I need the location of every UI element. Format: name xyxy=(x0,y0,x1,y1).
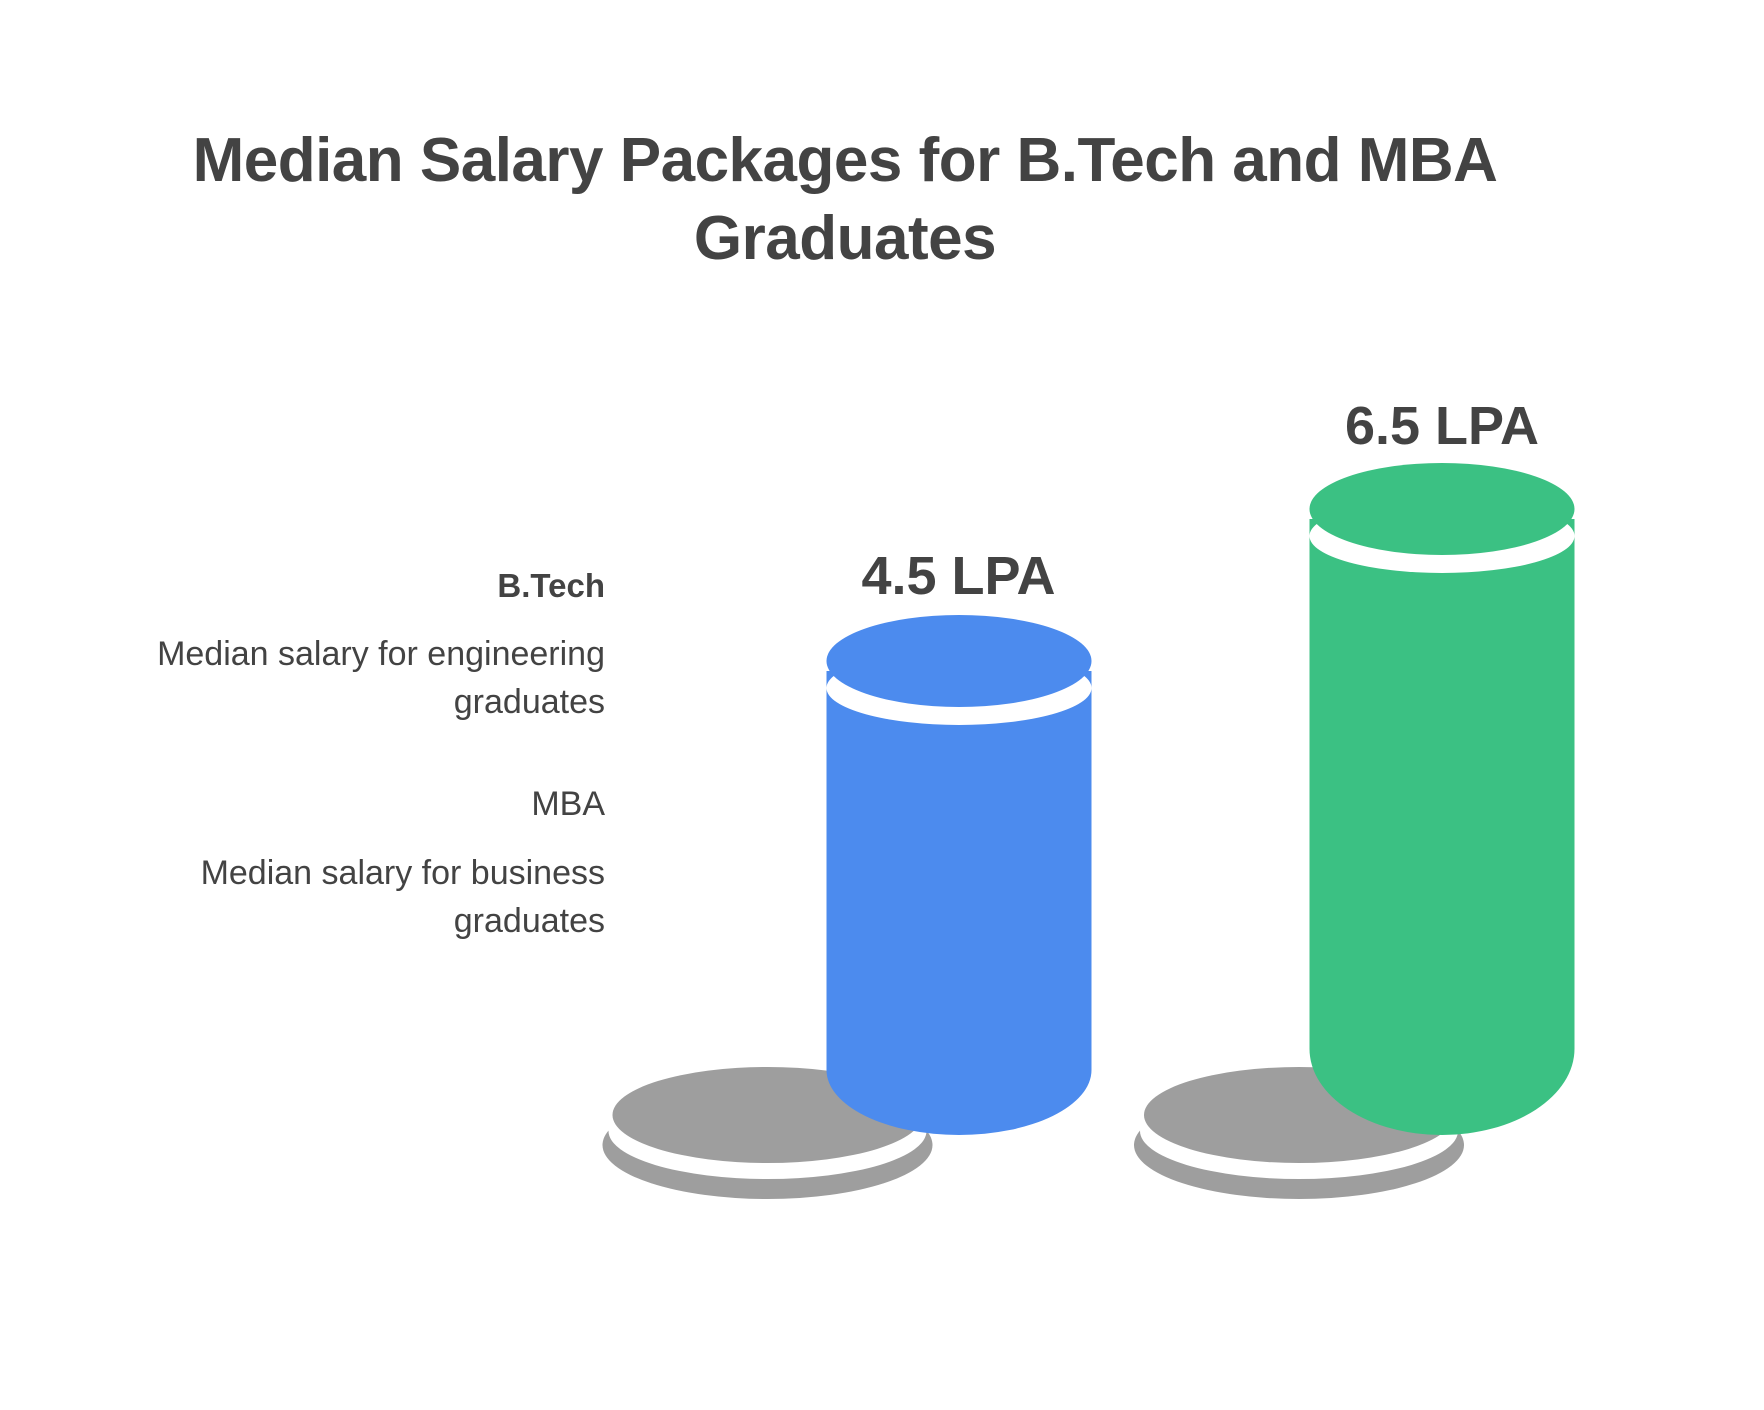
cylinder-body xyxy=(826,671,1091,1135)
plot-area: 4.5 LPA 6.5 LPA xyxy=(0,0,1764,1410)
bar-btech[interactable]: 4.5 LPA xyxy=(767,545,1150,1165)
cylinder-top-cap xyxy=(826,615,1091,707)
cylinder-top-cap xyxy=(1310,463,1575,555)
cylinder-body xyxy=(1310,519,1575,1135)
bar-mba[interactable]: 6.5 LPA xyxy=(1299,395,1585,1165)
bar-btech-cylinder xyxy=(826,615,1091,1135)
bar-mba-cylinder xyxy=(1310,463,1575,1135)
